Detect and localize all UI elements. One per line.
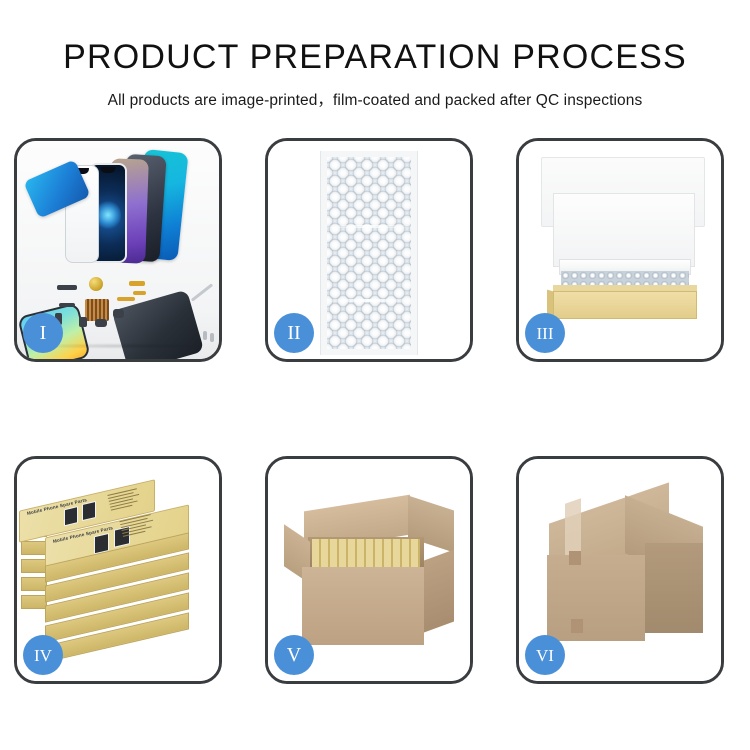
step-3-numeral: III bbox=[537, 325, 554, 342]
spare-part-camera-module bbox=[113, 309, 124, 318]
step-6-badge: VI bbox=[525, 635, 565, 675]
step-6-numeral: VI bbox=[536, 647, 554, 664]
kraft-box-back-side-3 bbox=[21, 559, 47, 573]
spare-part-vibrator bbox=[89, 277, 103, 291]
carton-contents-kraft-boxes bbox=[312, 539, 420, 569]
carton-tab-upper bbox=[569, 551, 581, 565]
spare-part-flex-cable-3 bbox=[117, 297, 135, 301]
step-panel-6: VI bbox=[516, 456, 724, 684]
carton-tab-lower bbox=[571, 619, 583, 633]
carton-front-face bbox=[302, 567, 424, 645]
step-1-badge: I bbox=[23, 313, 63, 353]
mailer-box-front bbox=[553, 291, 697, 319]
step-panel-1: I bbox=[14, 138, 222, 362]
spare-part-screw-2 bbox=[210, 333, 214, 342]
spare-part-button-flex bbox=[95, 319, 107, 327]
spare-part-bracket-1 bbox=[59, 303, 75, 307]
product-preparation-infographic: PRODUCT PREPARATION PROCESS All products… bbox=[0, 0, 750, 750]
spare-part-battery-connector bbox=[79, 317, 87, 327]
kraft-box-back-side-5 bbox=[21, 595, 47, 609]
kraft-box-back-side-4 bbox=[21, 577, 47, 591]
spare-part-speaker bbox=[57, 285, 77, 290]
step-1-numeral: I bbox=[40, 323, 47, 343]
mailer-box-interior bbox=[553, 193, 695, 267]
step-4-badge: IV bbox=[23, 635, 63, 675]
step-panel-4: Mobile Phone Spare Parts Mobile Phone Sp… bbox=[14, 456, 222, 684]
phone-notch bbox=[101, 167, 116, 173]
step-panel-5: V bbox=[265, 456, 473, 684]
spare-part-tweezers bbox=[191, 283, 213, 301]
sealed-carton-side-face bbox=[645, 543, 703, 633]
spare-part-flex-cable-2 bbox=[133, 291, 146, 295]
pouch-seam-bottom bbox=[325, 299, 413, 302]
step-panel-2: II bbox=[265, 138, 473, 362]
step-5-badge: V bbox=[274, 635, 314, 675]
step-3-badge: III bbox=[525, 313, 565, 353]
kraft-box-back-side-2 bbox=[21, 541, 47, 555]
header: PRODUCT PREPARATION PROCESS All products… bbox=[0, 0, 750, 118]
page-title: PRODUCT PREPARATION PROCESS bbox=[63, 38, 687, 77]
page-subtitle: All products are image-printed，film-coat… bbox=[108, 88, 643, 110]
spare-part-chip-board bbox=[85, 299, 109, 321]
steps-grid: I II bbox=[14, 138, 736, 684]
carton-side-face bbox=[424, 550, 454, 633]
sealed-carton-front-face bbox=[547, 555, 645, 641]
spare-part-flex-cable-1 bbox=[129, 281, 145, 286]
spare-part-screw-1 bbox=[203, 331, 207, 340]
box-1-product-image-a bbox=[64, 506, 78, 526]
bubble-wrap-pouch bbox=[320, 151, 418, 355]
box-1-product-image-b bbox=[82, 501, 96, 521]
bubble-texture bbox=[327, 157, 411, 349]
step-2-numeral: II bbox=[287, 323, 300, 343]
pouch-seam-top bbox=[325, 225, 413, 228]
step-panel-3: III bbox=[516, 138, 724, 362]
step-2-badge: II bbox=[274, 313, 314, 353]
step-4-numeral: IV bbox=[34, 647, 52, 664]
step-5-numeral: V bbox=[287, 645, 301, 665]
